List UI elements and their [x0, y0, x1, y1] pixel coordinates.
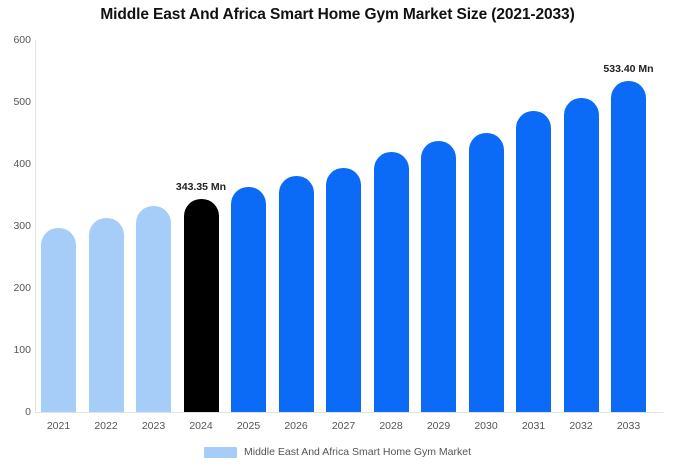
bar-2031[interactable] [516, 111, 551, 412]
bar-2025[interactable] [231, 187, 266, 412]
legend-label: Middle East And Africa Smart Home Gym Ma… [244, 446, 471, 458]
plot-area [35, 40, 663, 412]
bar-value-label-2024: 343.35 Mn [176, 181, 226, 193]
y-axis-tick: 300 [3, 221, 31, 232]
bar-2032[interactable] [564, 98, 599, 412]
bar-2030[interactable] [469, 133, 504, 412]
bar-slot [136, 40, 171, 412]
x-axis-tick: 2033 [599, 420, 659, 432]
bar-2022[interactable] [89, 218, 124, 412]
bar-2024[interactable] [184, 199, 219, 412]
bar-slot [41, 40, 76, 412]
bar-2021[interactable] [41, 228, 76, 412]
bar-2029[interactable] [421, 141, 456, 412]
legend-swatch-icon [204, 447, 237, 458]
bar-slot [279, 40, 314, 412]
bar-slot [231, 40, 266, 412]
chart-legend: Middle East And Africa Smart Home Gym Ma… [0, 446, 675, 458]
bar-value-label-2033: 533.40 Mn [603, 63, 653, 75]
x-axis-line [35, 412, 663, 413]
y-axis-tick: 100 [3, 345, 31, 356]
bar-slot [516, 40, 551, 412]
y-axis-tick: 500 [3, 97, 31, 108]
bar-slot [564, 40, 599, 412]
y-axis-tick: 0 [3, 407, 31, 418]
bar-slot [611, 40, 646, 412]
bar-slot [89, 40, 124, 412]
chart-title: Middle East And Africa Smart Home Gym Ma… [0, 6, 675, 24]
y-axis-tick: 400 [3, 159, 31, 170]
bar-slot [374, 40, 409, 412]
bar-slot [184, 40, 219, 412]
bar-slot [326, 40, 361, 412]
bar-chart: Middle East And Africa Smart Home Gym Ma… [0, 0, 675, 469]
bar-slot [469, 40, 504, 412]
y-axis-tick: 600 [3, 35, 31, 46]
bar-2023[interactable] [136, 206, 171, 412]
y-axis-tick-labels: 0100200300400500600 [0, 0, 31, 469]
bar-2033[interactable] [611, 81, 646, 412]
bar-2028[interactable] [374, 152, 409, 412]
bar-slot [421, 40, 456, 412]
y-axis-tick: 200 [3, 283, 31, 294]
bar-2027[interactable] [326, 168, 361, 412]
bar-2026[interactable] [279, 176, 314, 412]
